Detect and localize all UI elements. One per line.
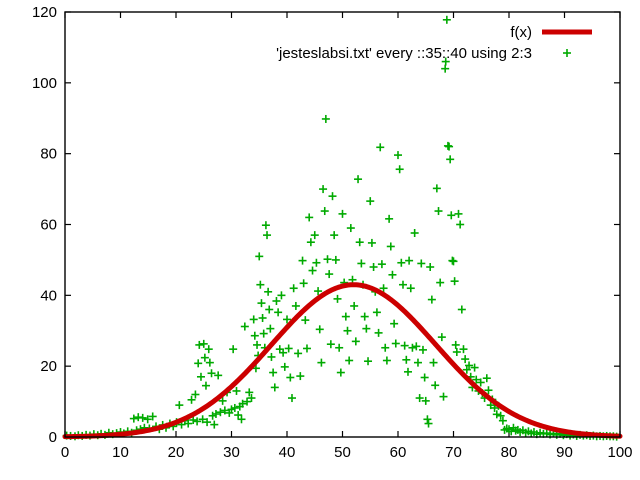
y-tick-label: 80 [40,146,57,163]
x-tick-label: 0 [61,444,69,461]
legend-label: f(x) [510,24,532,41]
y-tick-label: 40 [40,287,57,304]
chart-svg: 0102030405060708090100 020406080100120 f… [0,0,640,480]
x-tick-label: 10 [112,444,129,461]
x-tick-label: 80 [501,444,518,461]
x-tick-label: 60 [390,444,407,461]
plot-background [0,0,640,480]
x-tick-label: 40 [279,444,296,461]
x-tick-label: 100 [607,444,632,461]
y-tick-label: 20 [40,358,57,375]
x-tick-label: 30 [223,444,240,461]
x-tick-label: 70 [445,444,462,461]
legend-label: 'jesteslabsi.txt' every ::35::40 using 2… [276,45,532,62]
y-tick-label: 120 [32,4,57,21]
y-tick-label: 100 [32,75,57,92]
y-tick-label: 0 [49,429,57,446]
gnuplot-canvas: 0102030405060708090100 020406080100120 f… [0,0,640,480]
x-tick-label: 90 [556,444,573,461]
x-tick-label: 50 [334,444,351,461]
x-tick-label: 20 [168,444,185,461]
y-tick-label: 60 [40,217,57,234]
